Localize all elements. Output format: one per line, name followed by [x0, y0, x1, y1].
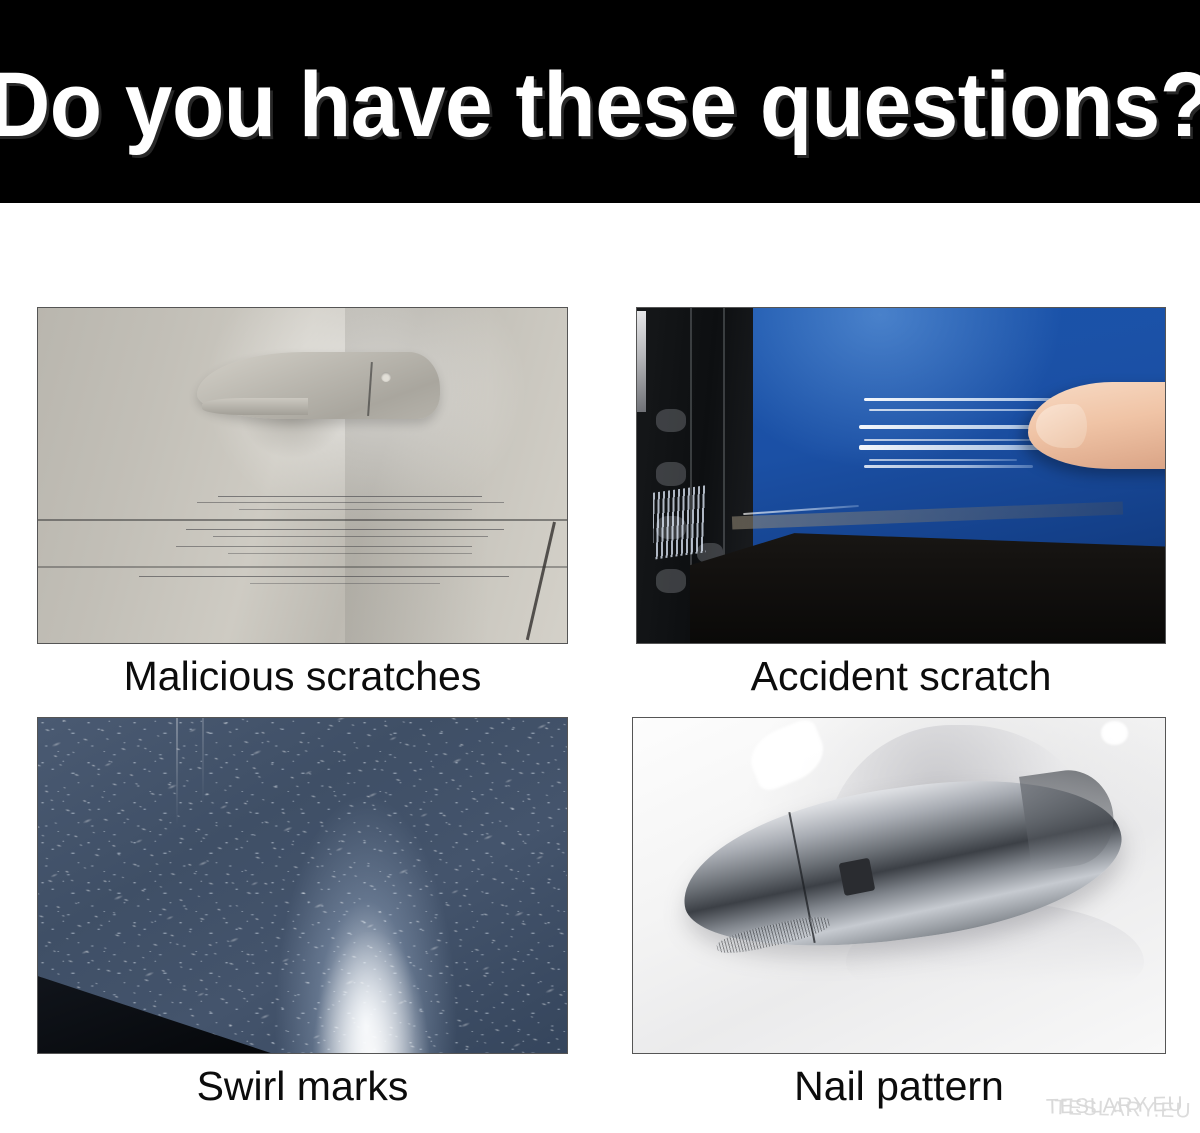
photo-malicious-scratches	[37, 307, 568, 644]
body-crease-line	[38, 519, 567, 521]
keyless-sensor-button	[838, 858, 875, 896]
panel-swirl-marks[interactable]: Swirl marks	[37, 717, 568, 1054]
key-scratch-line	[197, 502, 504, 503]
antenna-rod	[526, 522, 556, 640]
tire-tread-block	[656, 462, 686, 485]
paint-streak	[176, 718, 178, 825]
watermark: TESLARY.EU TESLARY.EU	[1044, 1092, 1194, 1124]
watermark-text: TESLARY.EU	[1054, 1096, 1200, 1124]
handle-tab	[202, 398, 308, 415]
scratch-type-grid: Malicious scratches	[0, 203, 1200, 1133]
fingernail	[1036, 404, 1087, 448]
panel-malicious-scratches[interactable]: Malicious scratches	[37, 307, 568, 644]
key-scratch-line	[250, 583, 440, 584]
paint-scuff-area	[653, 485, 706, 559]
pointing-finger	[1028, 382, 1166, 469]
paint-streak	[202, 718, 204, 805]
caption-accident-scratch: Accident scratch	[636, 656, 1166, 697]
key-scratch-line	[186, 529, 503, 530]
panel-accident-scratch[interactable]: Accident scratch	[636, 307, 1166, 644]
wheel-rim	[637, 311, 646, 412]
tire-tread-block	[656, 409, 686, 432]
key-scratch-line	[228, 553, 471, 554]
key-scratch-line	[176, 546, 472, 547]
light-reflection-glow	[313, 932, 429, 1054]
key-scratch-line	[239, 509, 472, 510]
specular-highlight	[743, 717, 832, 794]
tire-tread-block	[656, 569, 686, 592]
caption-swirl-marks: Swirl marks	[37, 1066, 568, 1107]
rocker-panel	[690, 509, 1165, 643]
key-scratch-line	[139, 576, 509, 577]
key-scratch-line	[213, 536, 488, 537]
photo-swirl-marks	[37, 717, 568, 1054]
key-scratch-line	[218, 496, 483, 497]
abrasion-scratch-line	[864, 465, 1033, 468]
photo-accident-scratch	[636, 307, 1166, 644]
caption-malicious-scratches: Malicious scratches	[37, 656, 568, 697]
header-banner: Do you have these questions?	[0, 0, 1200, 203]
panel-nail-pattern[interactable]: Nail pattern	[632, 717, 1166, 1054]
page-title: Do you have these questions?	[42, 0, 1158, 203]
abrasion-scratch-line	[864, 439, 1054, 441]
body-crease-line	[38, 566, 567, 568]
rocker-edge-damage	[732, 502, 1123, 530]
specular-highlight	[1101, 721, 1128, 744]
photo-nail-pattern	[632, 717, 1166, 1054]
handle-tip-shade	[1019, 765, 1120, 873]
abrasion-scratch-line	[869, 459, 1017, 461]
